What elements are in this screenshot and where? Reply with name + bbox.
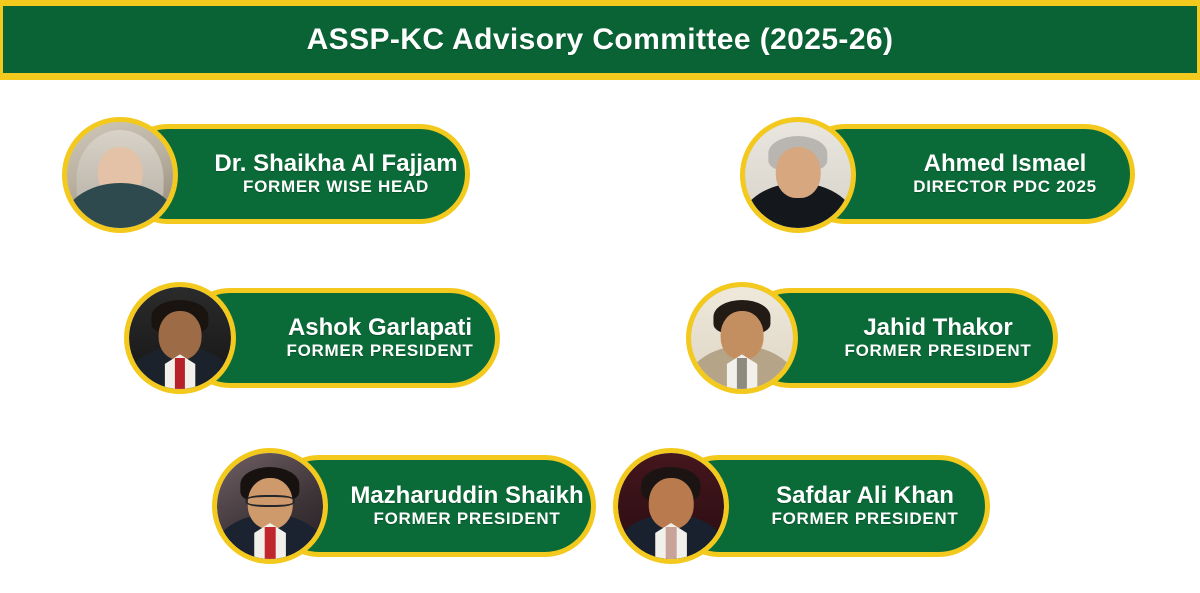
member-role: FORMER PRESIDENT [287,341,474,361]
page-title: ASSP-KC Advisory Committee (2025-26) [307,23,894,57]
avatar-jahid-thakor [686,282,798,394]
avatar-ahmed-ismael [740,117,856,233]
avatar-mazharuddin-shaikh [212,448,328,564]
member-name: Dr. Shaikha Al Fajjam [214,151,457,178]
member-role: FORMER WISE HEAD [243,177,429,197]
avatar-shaikha-al-fajjam [62,117,178,233]
page-header-banner: ASSP-KC Advisory Committee (2025-26) [0,0,1200,80]
member-role: DIRECTOR PDC 2025 [913,177,1097,197]
member-name: Jahid Thakor [863,315,1012,342]
member-role: FORMER PRESIDENT [772,509,959,529]
avatar-ashok-garlapati [124,282,236,394]
member-name: Safdar Ali Khan [776,483,954,510]
member-name: Mazharuddin Shaikh [350,483,583,510]
member-name: Ahmed Ismael [924,151,1087,178]
avatar-safdar-ali-khan [613,448,729,564]
member-name: Ashok Garlapati [288,315,472,342]
member-role: FORMER PRESIDENT [374,509,561,529]
member-role: FORMER PRESIDENT [845,341,1032,361]
